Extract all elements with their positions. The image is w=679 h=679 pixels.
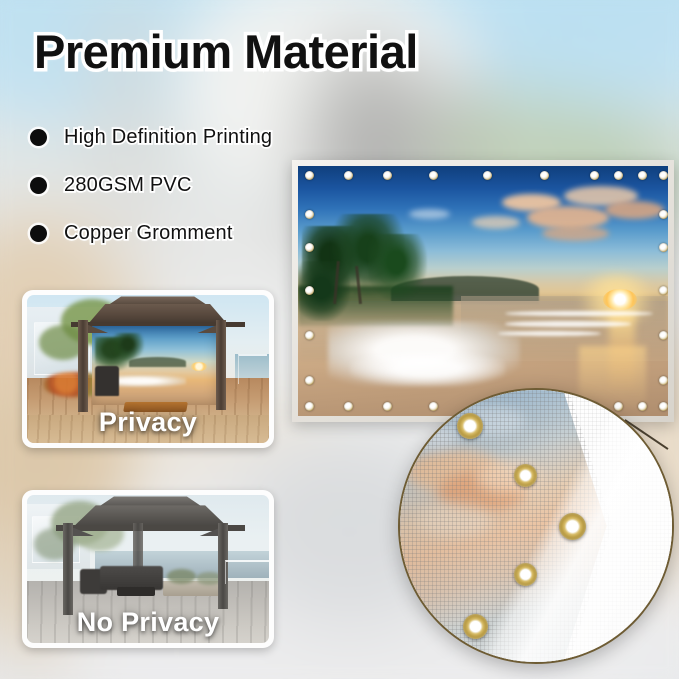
grommet-icon bbox=[383, 402, 392, 411]
grommet-icon bbox=[383, 171, 392, 180]
scene-chair bbox=[95, 366, 119, 396]
banner-wave bbox=[505, 311, 653, 316]
scene-railing bbox=[238, 354, 267, 384]
brass-grommet-icon bbox=[559, 513, 586, 540]
grommet-icon bbox=[659, 210, 668, 219]
scene-railing bbox=[225, 560, 269, 584]
grommet-icon bbox=[659, 331, 668, 340]
feature-label: High Definition Printing bbox=[64, 126, 272, 149]
comparison-card-privacy: Privacy bbox=[22, 290, 274, 448]
grommet-icon bbox=[590, 171, 599, 180]
grommet-icon bbox=[305, 376, 314, 385]
grommet-icon bbox=[540, 171, 549, 180]
gazebo-post bbox=[216, 320, 226, 410]
gazebo-post bbox=[63, 523, 73, 615]
brass-grommet-icon bbox=[457, 413, 483, 439]
gazebo-post bbox=[78, 320, 88, 412]
grommet-icon bbox=[659, 171, 668, 180]
grommet-icon bbox=[483, 171, 492, 180]
brass-grommet-icon bbox=[514, 464, 537, 487]
list-item: High Definition Printing bbox=[30, 122, 272, 152]
grommet-icon bbox=[305, 331, 314, 340]
brass-grommet-icon bbox=[514, 563, 537, 586]
grommet-closeup-magnifier bbox=[398, 388, 674, 664]
grommet-icon bbox=[659, 376, 668, 385]
page-title: Premium Material bbox=[34, 28, 418, 75]
banner-sun bbox=[191, 362, 207, 371]
banner-palm-tree bbox=[368, 234, 427, 302]
banner-cloud bbox=[542, 226, 609, 241]
banner-surf-edge bbox=[350, 351, 505, 386]
hero-banner bbox=[292, 160, 674, 422]
product-infographic: Premium Material High Definition Printin… bbox=[0, 0, 679, 679]
list-item: 280GSM PVC bbox=[30, 170, 272, 200]
banner-cloud bbox=[409, 209, 450, 219]
grommet-icon bbox=[305, 243, 314, 252]
scene-shrub bbox=[167, 569, 196, 584]
card-label: Privacy bbox=[27, 407, 269, 438]
bullet-dot-icon bbox=[30, 225, 47, 242]
no-privacy-scene-image: No Privacy bbox=[27, 495, 269, 643]
grommet-icon bbox=[659, 286, 668, 295]
bullet-dot-icon bbox=[30, 177, 47, 194]
banner-cloud bbox=[527, 206, 608, 229]
banner-wave bbox=[505, 321, 631, 327]
card-label: No Privacy bbox=[27, 607, 269, 638]
grommet-icon bbox=[305, 210, 314, 219]
privacy-scene-image: Privacy bbox=[27, 295, 269, 443]
brass-grommet-icon bbox=[463, 614, 488, 639]
grommet-icon bbox=[638, 171, 647, 180]
magnifier-corner-shadow bbox=[400, 390, 672, 662]
list-item: Copper Gromment bbox=[30, 218, 272, 248]
grommet-icon bbox=[614, 171, 623, 180]
grommet-icon bbox=[344, 171, 353, 180]
banner-headland bbox=[129, 357, 186, 366]
banner-cloud bbox=[472, 216, 520, 229]
banner-sun bbox=[603, 289, 636, 310]
banner-cloud bbox=[605, 201, 664, 219]
comparison-card-no-privacy: No Privacy bbox=[22, 490, 274, 648]
scene-table bbox=[117, 587, 156, 596]
grommet-icon bbox=[659, 243, 668, 252]
feature-label: 280GSM PVC bbox=[64, 174, 192, 197]
feature-label: Copper Gromment bbox=[64, 222, 233, 245]
grommet-icon bbox=[305, 171, 314, 180]
grommet-icon bbox=[305, 402, 314, 411]
hero-banner-image bbox=[298, 166, 668, 416]
grommet-icon bbox=[344, 402, 353, 411]
bullet-dot-icon bbox=[30, 129, 47, 146]
feature-list: High Definition Printing 280GSM PVC Copp… bbox=[30, 122, 272, 266]
grommet-icon bbox=[305, 286, 314, 295]
